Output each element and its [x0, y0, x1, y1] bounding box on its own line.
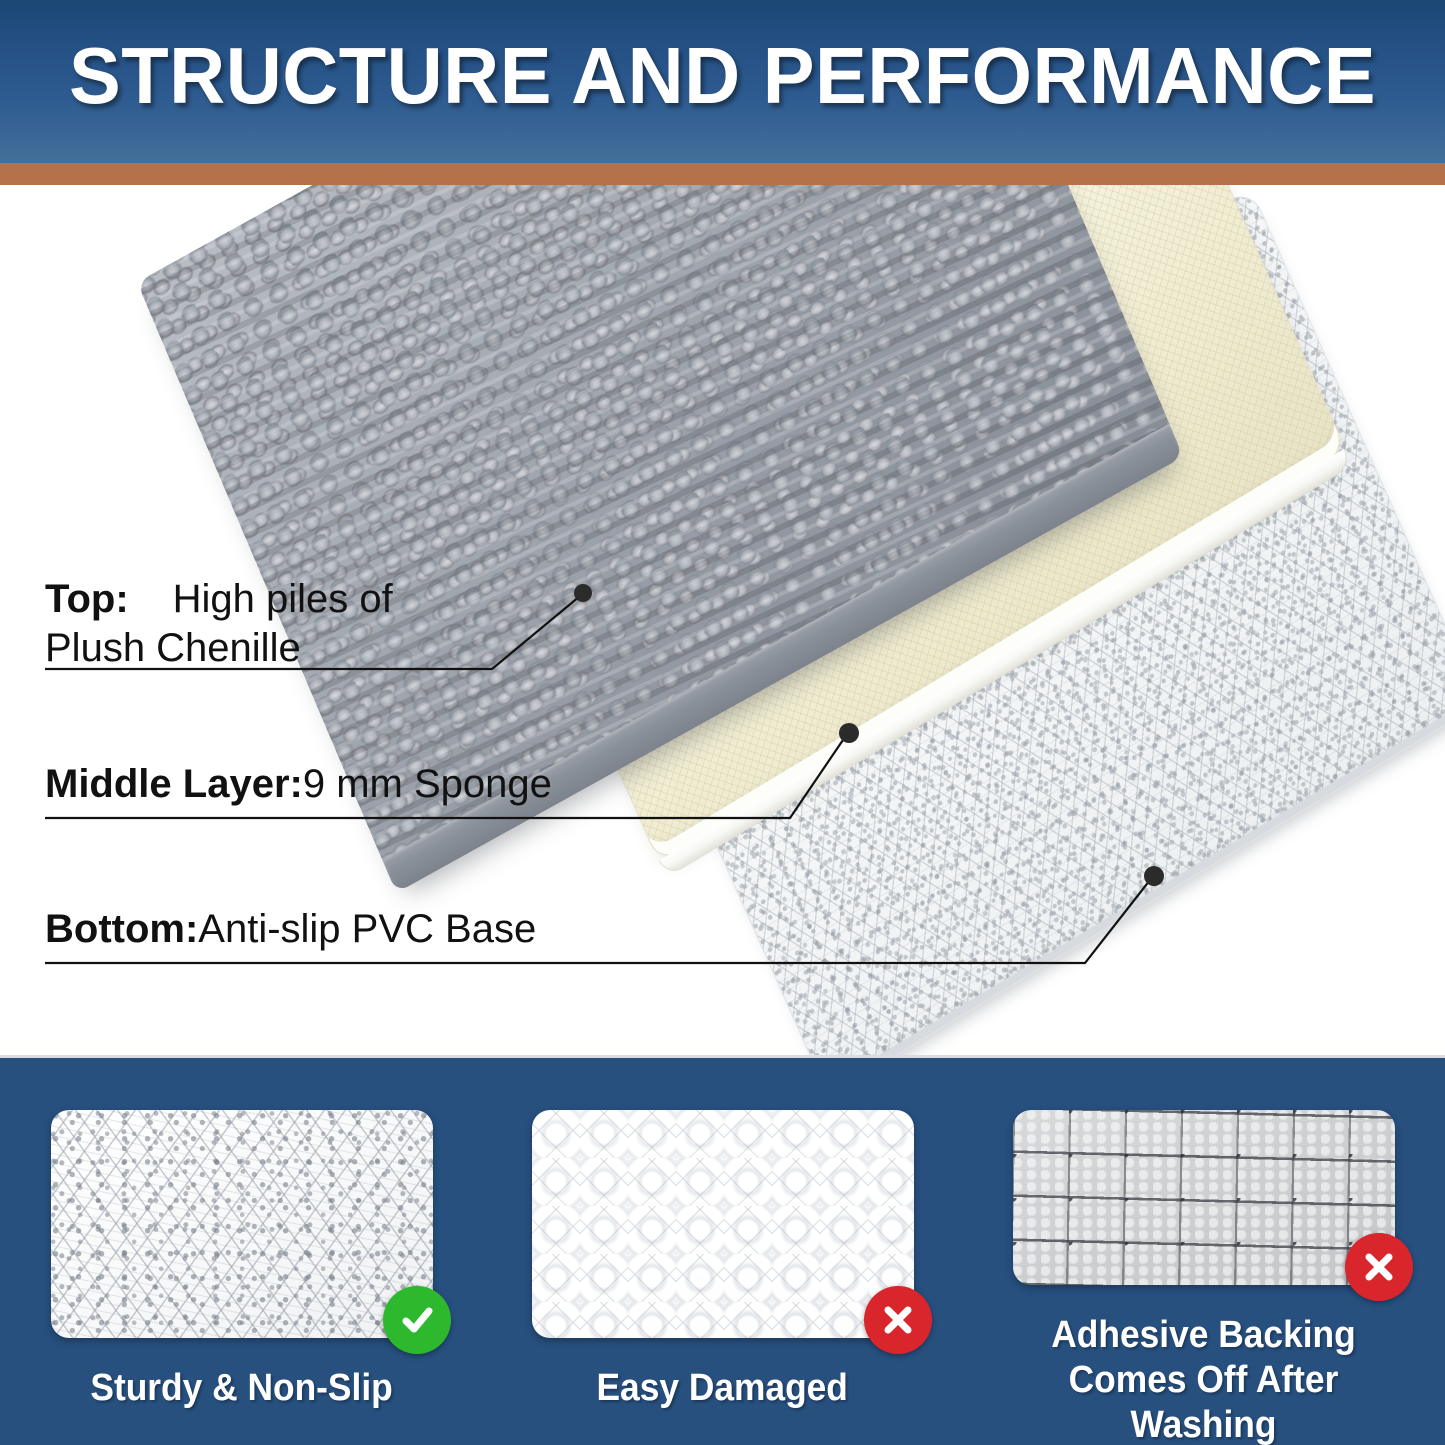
- infographic-page: STRUCTURE AND PERFORMANCE Top:High piles…: [0, 0, 1445, 1445]
- callout-bottom-value: Anti-slip PVC Base: [198, 907, 536, 951]
- callout-middle-value: 9 mm Sponge: [303, 762, 552, 806]
- comparison-panel: Sturdy & Non-Slip Easy Damaged: [0, 1055, 1445, 1445]
- swatch-wrap-3: [1013, 1110, 1395, 1285]
- callout-top-label: Top:: [45, 577, 129, 621]
- embossed-foam-swatch: [532, 1110, 914, 1338]
- comparison-caption-3: Adhesive Backing Comes Off After Washing: [1020, 1313, 1387, 1445]
- accent-strip: [0, 163, 1445, 186]
- callout-bottom-content: Bottom:Anti-slip PVC Base: [45, 905, 536, 954]
- comparison-caption-2: Easy Damaged: [597, 1366, 848, 1411]
- swatch-wrap-1: [51, 1110, 433, 1338]
- cross-circle-icon: [864, 1286, 932, 1354]
- swatch-wrap-2: [532, 1110, 914, 1338]
- header-banner: STRUCTURE AND PERFORMANCE: [0, 0, 1445, 163]
- callout-bottom-label: Bottom:: [45, 907, 198, 951]
- callout-bottom-layer: Bottom:Anti-slip PVC Base: [45, 905, 536, 954]
- comparison-item-easy-damaged: Easy Damaged: [525, 1058, 920, 1445]
- callout-middle-layer: Middle Layer:9 mm Sponge: [45, 760, 552, 809]
- comparison-grid: Sturdy & Non-Slip Easy Damaged: [0, 1058, 1445, 1445]
- pvc-mesh-swatch: [51, 1110, 433, 1338]
- cross-circle-icon: [1345, 1233, 1413, 1301]
- comparison-item-adhesive-backing: Adhesive Backing Comes Off After Washing: [1006, 1058, 1401, 1445]
- callout-top-layer: Top:High piles of Plush Chenille: [45, 575, 393, 673]
- comparison-item-sturdy-non-slip: Sturdy & Non-Slip: [44, 1058, 439, 1445]
- callout-middle-label: Middle Layer:: [45, 762, 303, 806]
- check-circle-icon: [383, 1286, 451, 1354]
- callout-top-content: Top:High piles of Plush Chenille: [45, 575, 393, 673]
- callout-middle-content: Middle Layer:9 mm Sponge: [45, 760, 552, 809]
- comparison-caption-1: Sturdy & Non-Slip: [90, 1366, 392, 1411]
- page-title: STRUCTURE AND PERFORMANCE: [22, 34, 1424, 118]
- grid-fabric-swatch: [1013, 1110, 1395, 1285]
